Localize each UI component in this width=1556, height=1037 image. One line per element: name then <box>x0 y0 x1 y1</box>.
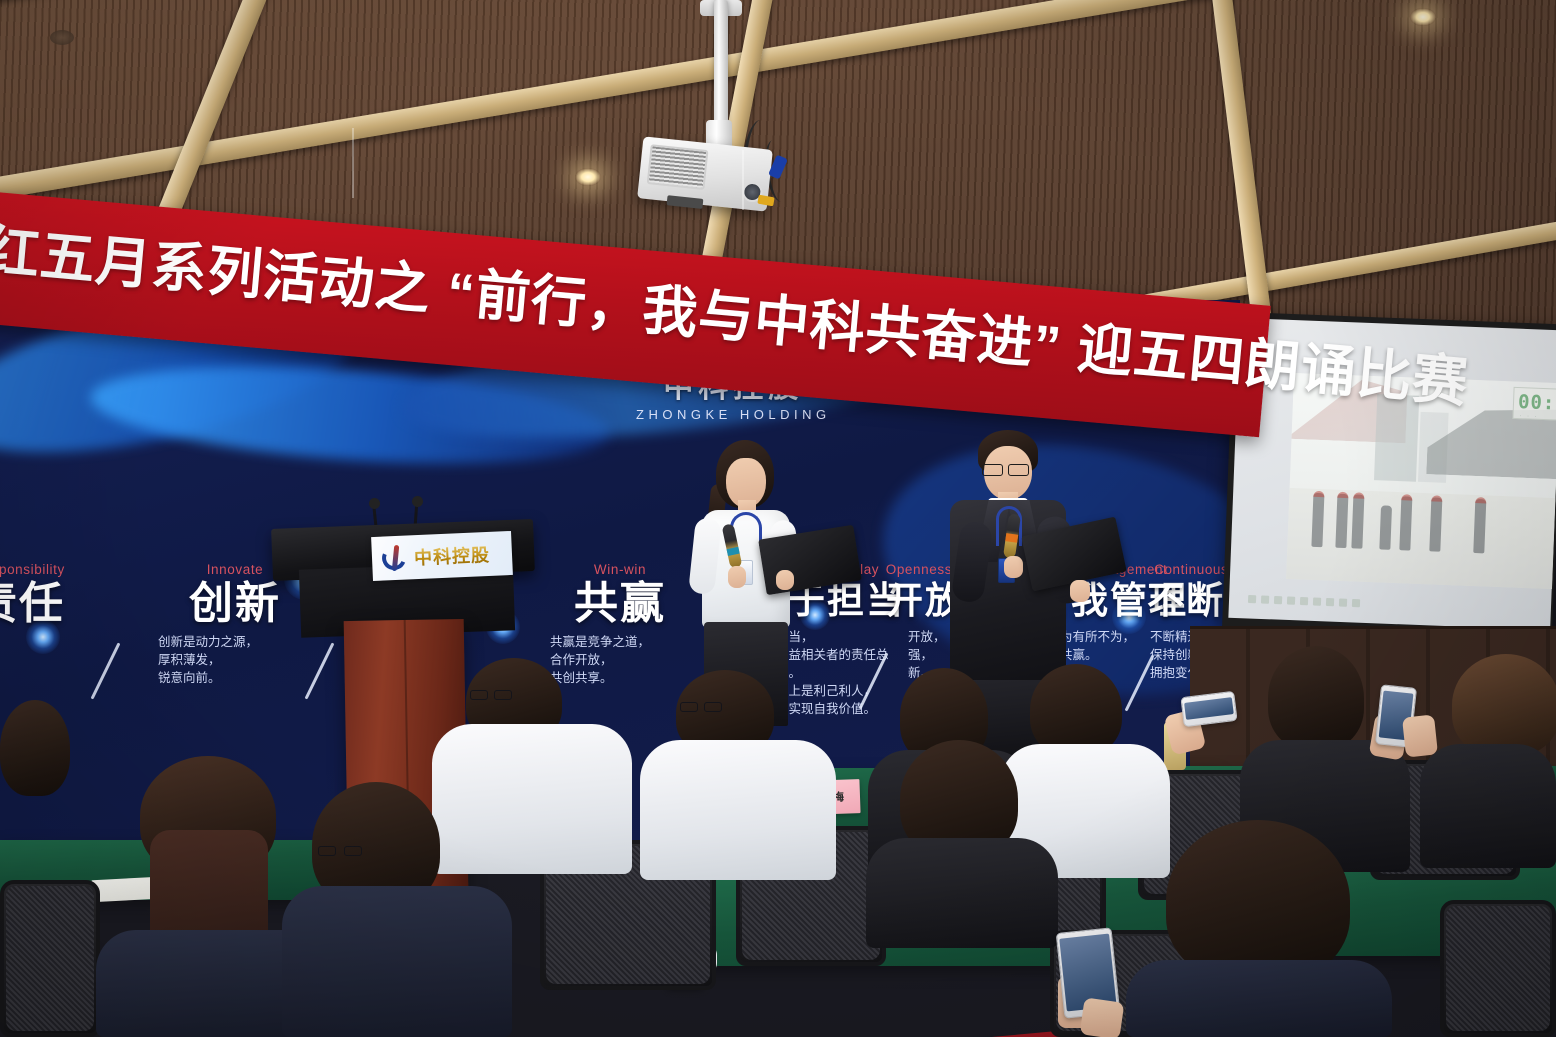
slide-helmet <box>1353 492 1364 498</box>
taskbar-icon <box>1313 597 1321 605</box>
backdrop-panel-responsibility: Responsibility 责任 立身之本， 度， 泊。 <box>0 562 104 687</box>
downlight <box>575 168 601 186</box>
slide-worker <box>1399 496 1412 550</box>
podium-mic-head <box>369 498 380 509</box>
slide-worker <box>1351 494 1364 548</box>
audience-chair <box>1440 900 1556 1037</box>
eyeglasses-icon <box>680 702 736 712</box>
taskbar-icon <box>1274 596 1282 604</box>
audience-head <box>1030 664 1122 756</box>
audience-shoulders <box>1420 744 1556 868</box>
slide-worker <box>1473 499 1486 553</box>
taskbar-icon <box>1300 597 1308 605</box>
podium-sign-text: 中科控股 <box>413 541 490 570</box>
audience-chair <box>0 880 100 1037</box>
downlight <box>1410 8 1436 26</box>
right-hand <box>776 570 794 590</box>
left-hand <box>728 566 746 588</box>
audience-head <box>1452 654 1556 756</box>
ceiling-vent <box>50 30 74 45</box>
slide-worker <box>1311 493 1324 547</box>
eyeglasses-icon <box>982 464 1034 476</box>
audience-head <box>1268 646 1364 750</box>
slide-helmet <box>1401 494 1412 500</box>
taskbar-icon <box>1339 598 1347 606</box>
slide-ground <box>1286 488 1555 589</box>
slide-helmet <box>1431 495 1442 501</box>
projector-vent-grille <box>647 144 709 190</box>
hand <box>1080 997 1125 1037</box>
ceiling-beam <box>0 0 1556 12</box>
hand <box>1402 714 1438 757</box>
taskbar-icon <box>1248 595 1256 603</box>
banner-hanging-string <box>352 128 354 198</box>
banner-hanging-string <box>742 150 744 210</box>
taskbar-icon <box>1287 596 1295 604</box>
audience-shoulders <box>432 724 632 874</box>
panel-description: 创新是动力之源， 厚积薄发， 锐意向前。 <box>140 633 330 687</box>
slide-worker <box>1335 494 1348 548</box>
podium-company-sign: 中科控股 <box>371 531 513 581</box>
audience-head <box>0 700 70 796</box>
countdown-timer-display: 00:0 ··· <box>1512 387 1556 421</box>
conference-hall-photo: 中科控股 ZHONGKE HOLDING Responsibility 责任 立… <box>0 0 1556 1037</box>
audience-head <box>1166 820 1350 982</box>
taskbar-icon <box>1352 599 1360 607</box>
eyeglasses-icon <box>470 690 526 700</box>
zhongke-logo-icon <box>381 544 408 571</box>
slide-helmet <box>1475 497 1486 503</box>
right-hand <box>1070 580 1090 602</box>
audience-shoulders <box>282 886 512 1037</box>
phone-screen <box>1184 697 1234 720</box>
panel-cn-title: 责任 <box>0 582 104 625</box>
audience-shoulders <box>1126 960 1392 1037</box>
timer-value: 00:0 <box>1514 388 1556 415</box>
taskbar-icon <box>1261 595 1269 603</box>
left-hand <box>1004 556 1023 578</box>
panel-description: 立身之本， 度， 泊。 <box>0 633 104 687</box>
podium-mic-head <box>412 496 423 507</box>
slide-worker <box>1429 497 1442 551</box>
company-name-en: ZHONGKE HOLDING <box>636 407 831 422</box>
panel-en-title: Responsibility <box>0 562 104 577</box>
audience-shoulders <box>866 838 1058 948</box>
taskbar-icon <box>1326 598 1334 606</box>
eyeglasses-icon <box>318 846 378 856</box>
slide-helmet <box>1313 491 1324 497</box>
slide-worker <box>1379 505 1392 549</box>
slide-helmet <box>1337 492 1348 498</box>
audience-shoulders <box>640 740 836 880</box>
